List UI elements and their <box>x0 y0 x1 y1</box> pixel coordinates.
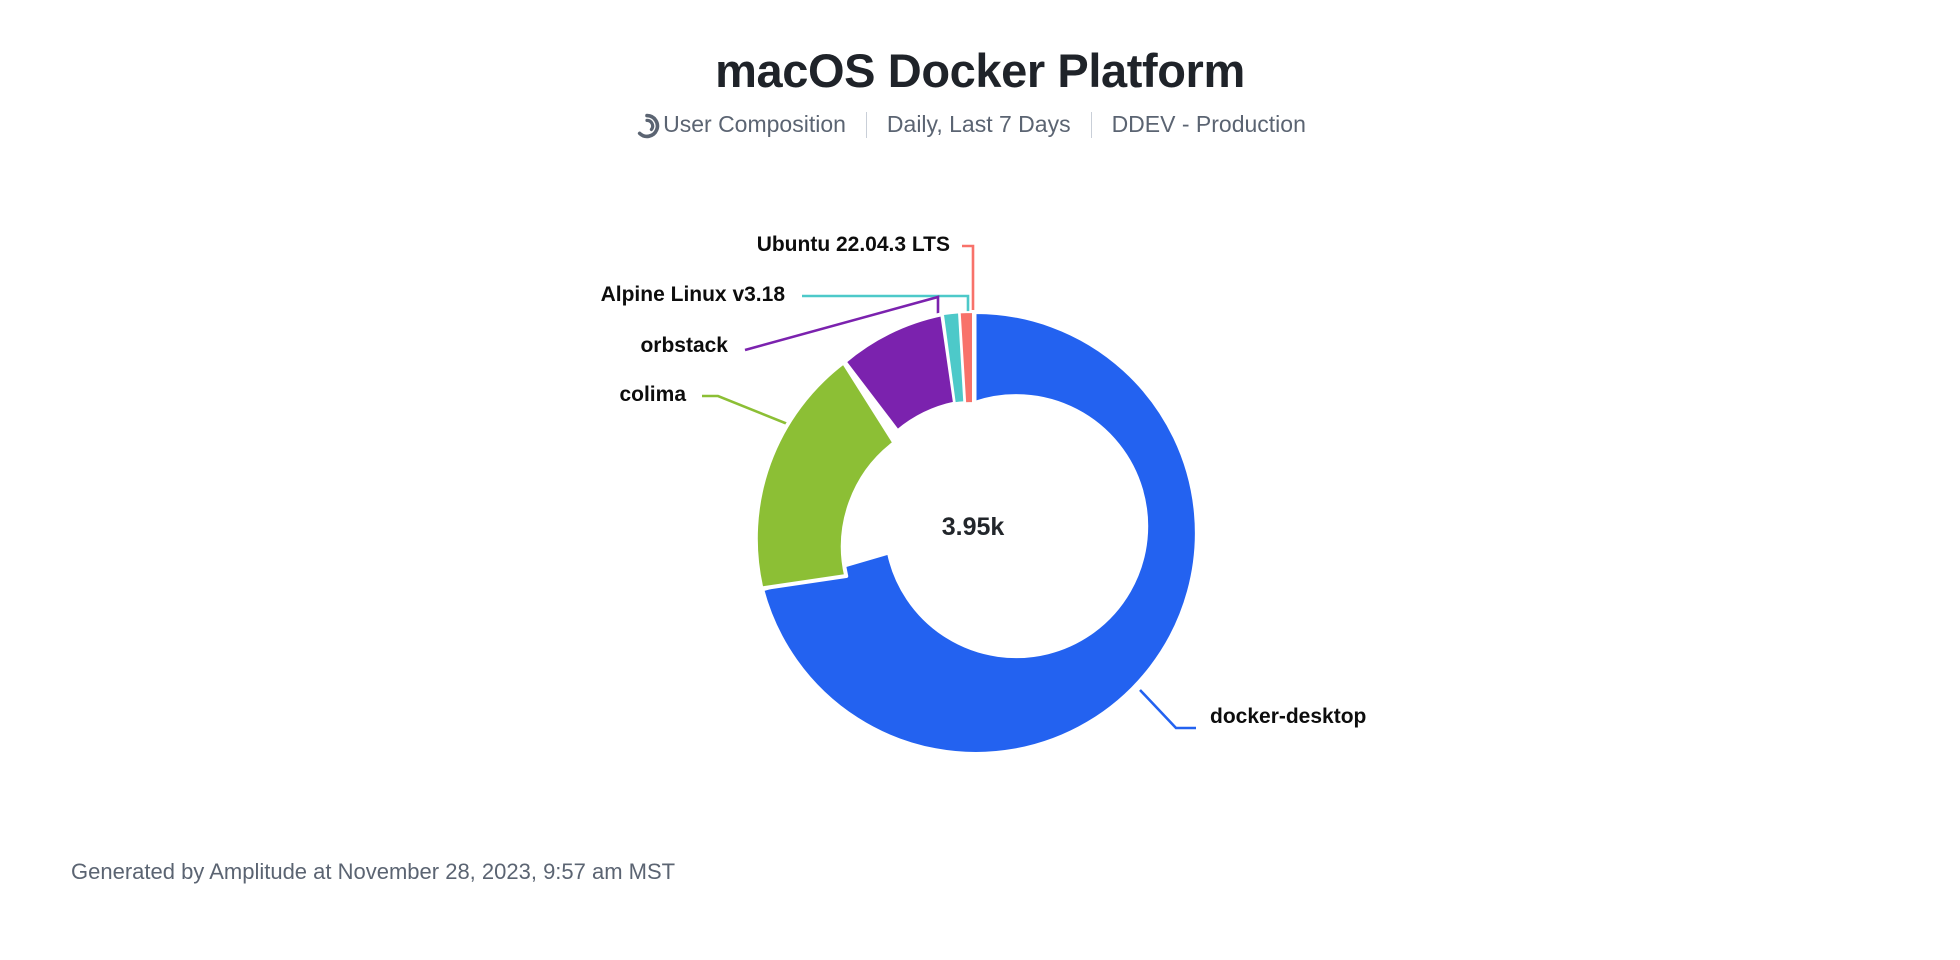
donut-slice-colima[interactable] <box>756 362 895 588</box>
slice-label-docker-desktop: docker-desktop <box>1210 705 1366 729</box>
chart-card: macOS Docker Platform User Composition D… <box>0 0 1960 960</box>
interval-label: Daily, Last 7 Days <box>887 111 1071 138</box>
donut-chart-icon <box>634 113 660 139</box>
leader-line-ubuntu <box>962 246 973 310</box>
donut-slices <box>756 312 1197 754</box>
interval-segment: Daily, Last 7 Days <box>867 111 1091 138</box>
donut-slice-orbstack[interactable] <box>845 314 956 431</box>
donut-slice-alpine-linux[interactable] <box>943 312 964 403</box>
leader-line-alpine <box>802 296 968 313</box>
page-title: macOS Docker Platform <box>0 0 1960 95</box>
donut-center-total: 3.95k <box>873 513 1073 542</box>
metric-label: User Composition <box>663 111 846 138</box>
leader-line-docker-desktop <box>1140 690 1196 728</box>
slice-label-colima: colima <box>360 383 686 407</box>
leader-line-orbstack <box>745 297 938 350</box>
generated-by-note: Generated by Amplitude at November 28, 2… <box>71 859 675 885</box>
slice-label-alpine-linux: Alpine Linux v3.18 <box>360 283 785 307</box>
leader-lines <box>702 246 1196 728</box>
chart-header: macOS Docker Platform User Composition D… <box>0 0 1960 138</box>
donut-slice-docker-desktop[interactable] <box>762 312 1197 754</box>
chart-subtitle: User Composition Daily, Last 7 Days DDEV… <box>0 111 1960 138</box>
metric-segment: User Composition <box>634 111 866 138</box>
project-label: DDEV - Production <box>1112 111 1306 138</box>
project-segment: DDEV - Production <box>1092 111 1326 138</box>
leader-line-colima <box>702 396 795 427</box>
donut-slice-ubuntu[interactable] <box>960 312 973 403</box>
slice-label-orbstack: orbstack <box>360 334 728 358</box>
slice-label-ubuntu: Ubuntu 22.04.3 LTS <box>480 233 950 257</box>
